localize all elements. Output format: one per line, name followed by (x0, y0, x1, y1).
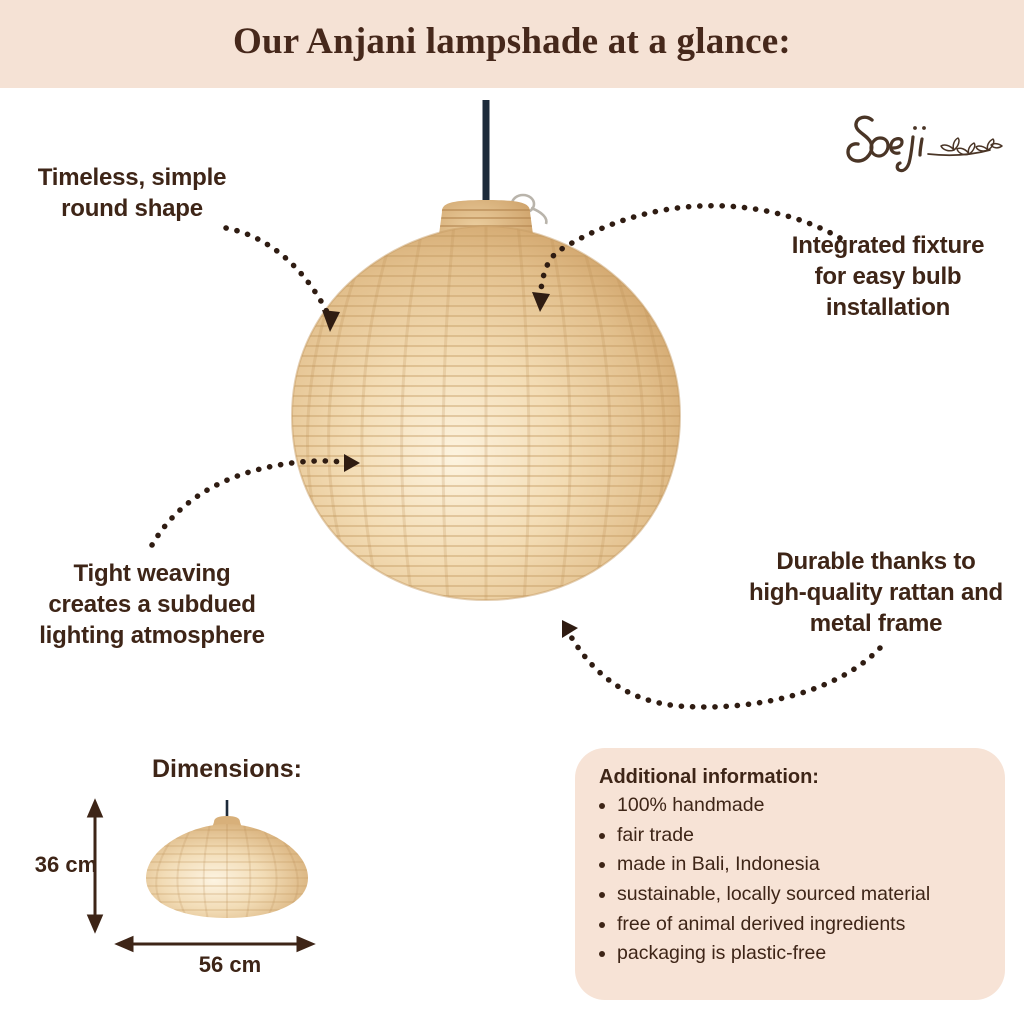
page-title: Our Anjani lampshade at a glance: (0, 20, 1024, 63)
list-item: packaging is plastic-free (597, 939, 983, 969)
dimension-width-label: 56 cm (150, 952, 310, 978)
callout-timeless-shape: Timeless, simple round shape (22, 162, 242, 224)
callout-integrated-fixture: Integrated fixture for easy bulb install… (768, 230, 1008, 324)
callout-line: Tight weaving (18, 558, 286, 589)
callout-line: round shape (22, 193, 242, 224)
callout-line: lighting atmosphere (18, 620, 286, 651)
soeji-logo-icon (836, 104, 1016, 180)
callout-line: high-quality rattan and (736, 577, 1016, 608)
list-item: made in Bali, Indonesia (597, 850, 983, 880)
dimension-height-label: 36 cm (30, 852, 102, 878)
callout-line: for easy bulb (768, 261, 1008, 292)
list-item: 100% handmade (597, 791, 983, 821)
callout-line: Durable thanks to (736, 546, 1016, 577)
info-card-list: 100% handmade fair trade made in Bali, I… (597, 791, 983, 969)
callout-line: Timeless, simple (22, 162, 242, 193)
infographic-page: Our Anjani lampshade at a glance: (0, 0, 1024, 1024)
list-item: sustainable, locally sourced material (597, 880, 983, 910)
brand-logo (836, 104, 1016, 180)
additional-information-card: Additional information: 100% handmade fa… (575, 748, 1005, 1000)
callout-line: installation (768, 292, 1008, 323)
info-card-title: Additional information: (599, 766, 983, 789)
callout-line: metal frame (736, 608, 1016, 639)
callout-line: creates a subdued (18, 589, 286, 620)
list-item: free of animal derived ingredients (597, 910, 983, 940)
callout-line: Integrated fixture (768, 230, 1008, 261)
callout-durable-rattan: Durable thanks to high-quality rattan an… (736, 546, 1016, 640)
list-item: fair trade (597, 821, 983, 851)
callout-tight-weaving: Tight weaving creates a subdued lighting… (18, 558, 286, 652)
